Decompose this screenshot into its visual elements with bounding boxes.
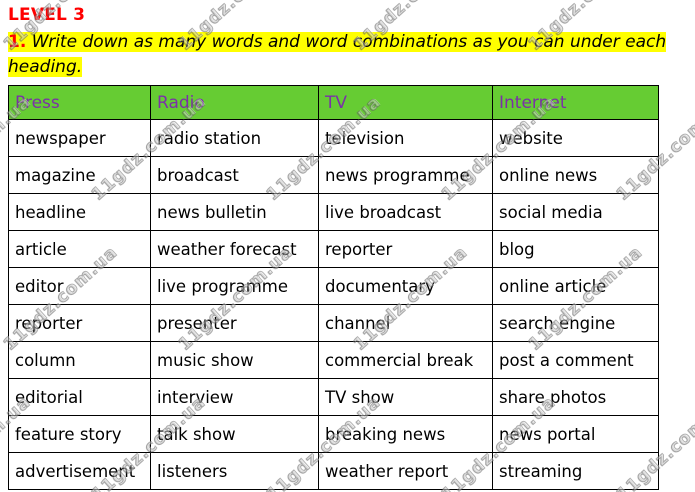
table-cell: news portal [493, 416, 659, 453]
table-cell: post a comment [493, 342, 659, 379]
table-cell: share photos [493, 379, 659, 416]
table-cell: blog [493, 231, 659, 268]
table-row: column music show commercial break post … [9, 342, 659, 379]
table-cell: column [9, 342, 151, 379]
table-row: editor live programme documentary online… [9, 268, 659, 305]
column-header-tv: TV [319, 86, 493, 120]
table-row: article weather forecast reporter blog [9, 231, 659, 268]
table-cell: news bulletin [151, 194, 319, 231]
table-cell: radio station [151, 120, 319, 157]
page-title: LEVEL 3 [8, 5, 85, 25]
table-cell: weather forecast [151, 231, 319, 268]
table-cell: search engine [493, 305, 659, 342]
column-header-internet: Internet [493, 86, 659, 120]
column-header-radio: Radio [151, 86, 319, 120]
table-cell: article [9, 231, 151, 268]
table-cell: interview [151, 379, 319, 416]
task-number: 1. [8, 32, 26, 52]
table-cell: online news [493, 157, 659, 194]
table-cell: broadcast [151, 157, 319, 194]
table-cell: live programme [151, 268, 319, 305]
table-cell: editorial [9, 379, 151, 416]
table-row: advertisement listeners weather report s… [9, 453, 659, 490]
table-cell: listeners [151, 453, 319, 490]
table-row: newspaper radio station television websi… [9, 120, 659, 157]
worksheet-page: LEVEL 3 1. Write down as many words and … [0, 0, 695, 492]
table-cell: presenter [151, 305, 319, 342]
table-cell: editor [9, 268, 151, 305]
task-instruction-text: Write down as many words and word combin… [8, 32, 666, 77]
table-body: newspaper radio station television websi… [9, 120, 659, 490]
table-cell: advertisement [9, 453, 151, 490]
table-cell: documentary [319, 268, 493, 305]
table-cell: music show [151, 342, 319, 379]
table-cell: newspaper [9, 120, 151, 157]
table-row: feature story talk show breaking news ne… [9, 416, 659, 453]
vocabulary-table: Press Radio TV Internet newspaper radio … [8, 85, 659, 490]
table-cell: news programme [319, 157, 493, 194]
table-cell: live broadcast [319, 194, 493, 231]
table-cell: commercial break [319, 342, 493, 379]
table-cell: channel [319, 305, 493, 342]
task-instruction: 1. Write down as many words and word com… [8, 30, 684, 80]
column-header-press: Press [9, 86, 151, 120]
table-cell: reporter [319, 231, 493, 268]
table-cell: talk show [151, 416, 319, 453]
table-cell: breaking news [319, 416, 493, 453]
table-row: magazine broadcast news programme online… [9, 157, 659, 194]
table-cell: headline [9, 194, 151, 231]
table-cell: television [319, 120, 493, 157]
table-row: headline news bulletin live broadcast so… [9, 194, 659, 231]
table-row: reporter presenter channel search engine [9, 305, 659, 342]
table-cell: reporter [9, 305, 151, 342]
table-cell: social media [493, 194, 659, 231]
table-cell: website [493, 120, 659, 157]
table-row: editorial interview TV show share photos [9, 379, 659, 416]
table-cell: feature story [9, 416, 151, 453]
table-header-row: Press Radio TV Internet [9, 86, 659, 120]
table-cell: online article [493, 268, 659, 305]
table-cell: streaming [493, 453, 659, 490]
table-cell: magazine [9, 157, 151, 194]
task-instruction-highlight: 1. Write down as many words and word com… [8, 32, 666, 77]
table-cell: weather report [319, 453, 493, 490]
table-cell: TV show [319, 379, 493, 416]
